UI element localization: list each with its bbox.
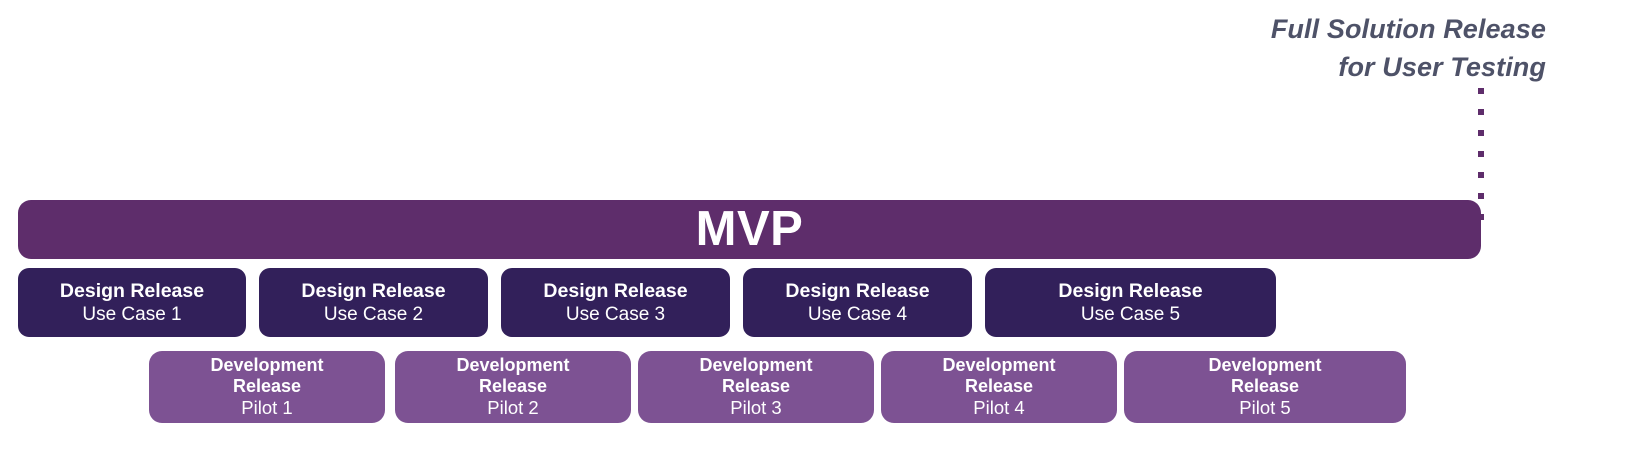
roadmap-diagram: Full Solution Release for User Testing M… [0,0,1648,450]
design-release-card-title: Design Release [60,280,204,303]
design-release-card-subtitle: Use Case 1 [82,303,181,326]
connector-dot [1478,193,1484,199]
connector-dot [1478,88,1484,94]
design-release-card[interactable]: Design ReleaseUse Case 1 [18,268,246,337]
dotted-vertical-connector-icon [1478,88,1484,216]
development-release-card-subtitle: Pilot 1 [241,397,292,419]
design-release-card[interactable]: Design ReleaseUse Case 5 [985,268,1276,337]
connector-dot [1478,130,1484,136]
design-release-card-title: Design Release [301,280,445,303]
mvp-label: MVP [696,205,804,254]
development-release-card-title: Development Release [456,355,569,397]
design-release-card-subtitle: Use Case 4 [808,303,907,326]
development-release-card-subtitle: Pilot 5 [1239,397,1290,419]
design-release-card-title: Design Release [785,280,929,303]
design-release-card-subtitle: Use Case 2 [324,303,423,326]
development-release-card[interactable]: Development ReleasePilot 4 [881,351,1117,423]
development-release-card-subtitle: Pilot 4 [973,397,1024,419]
design-release-card[interactable]: Design ReleaseUse Case 2 [259,268,488,337]
development-release-card-title: Development Release [1208,355,1321,397]
development-release-card[interactable]: Development ReleasePilot 5 [1124,351,1406,423]
development-release-card-title: Development Release [942,355,1055,397]
development-release-card-title: Development Release [210,355,323,397]
development-release-card-title: Development Release [699,355,812,397]
development-release-card-subtitle: Pilot 2 [487,397,538,419]
development-release-card[interactable]: Development ReleasePilot 2 [395,351,631,423]
design-release-card-title: Design Release [1058,280,1202,303]
connector-dot [1478,172,1484,178]
development-release-card-subtitle: Pilot 3 [730,397,781,419]
development-release-card[interactable]: Development ReleasePilot 3 [638,351,874,423]
full-solution-release-annotation: Full Solution Release for User Testing [986,10,1546,86]
design-release-card-title: Design Release [543,280,687,303]
design-release-card-subtitle: Use Case 3 [566,303,665,326]
connector-dot [1478,109,1484,115]
connector-dot [1478,151,1484,157]
design-release-card[interactable]: Design ReleaseUse Case 4 [743,268,972,337]
design-release-card-subtitle: Use Case 5 [1081,303,1180,326]
mvp-bar[interactable]: MVP [18,200,1481,259]
development-release-card[interactable]: Development ReleasePilot 1 [149,351,385,423]
design-release-card[interactable]: Design ReleaseUse Case 3 [501,268,730,337]
